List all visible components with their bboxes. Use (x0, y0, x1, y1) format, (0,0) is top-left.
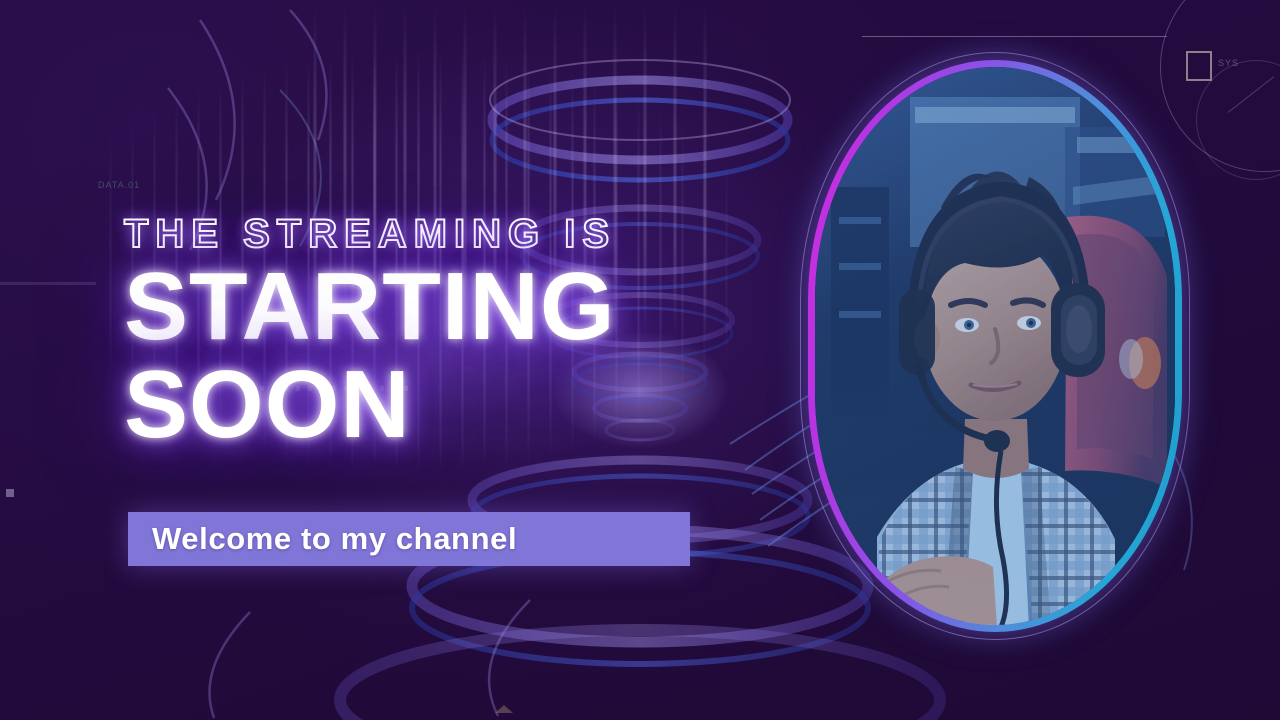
hud-left-divider (0, 282, 96, 285)
hud-left-label: DATA.01 (98, 180, 140, 190)
headline-block: THE STREAMING IS STARTING SOON (124, 214, 844, 450)
portrait-color-tint (815, 67, 1175, 625)
hud-triangle-icon (495, 705, 513, 713)
welcome-banner: Welcome to my channel (128, 512, 690, 566)
streamer-portrait (800, 52, 1190, 640)
hud-corner-label: SYS (1218, 58, 1239, 68)
hud-dot-marker (6, 489, 14, 497)
headline-line-2: SOON (124, 360, 844, 450)
headline-line-1: STARTING (124, 262, 844, 352)
welcome-banner-text: Welcome to my channel (152, 521, 517, 557)
portrait-photo-mask (815, 67, 1175, 625)
stream-overlay-stage: SYS DATA.01 THE STREAMING IS STARTING SO… (0, 0, 1280, 720)
portrait-gradient-frame (808, 60, 1182, 632)
hud-top-divider (862, 36, 1167, 37)
headline-kicker: THE STREAMING IS (124, 214, 844, 254)
